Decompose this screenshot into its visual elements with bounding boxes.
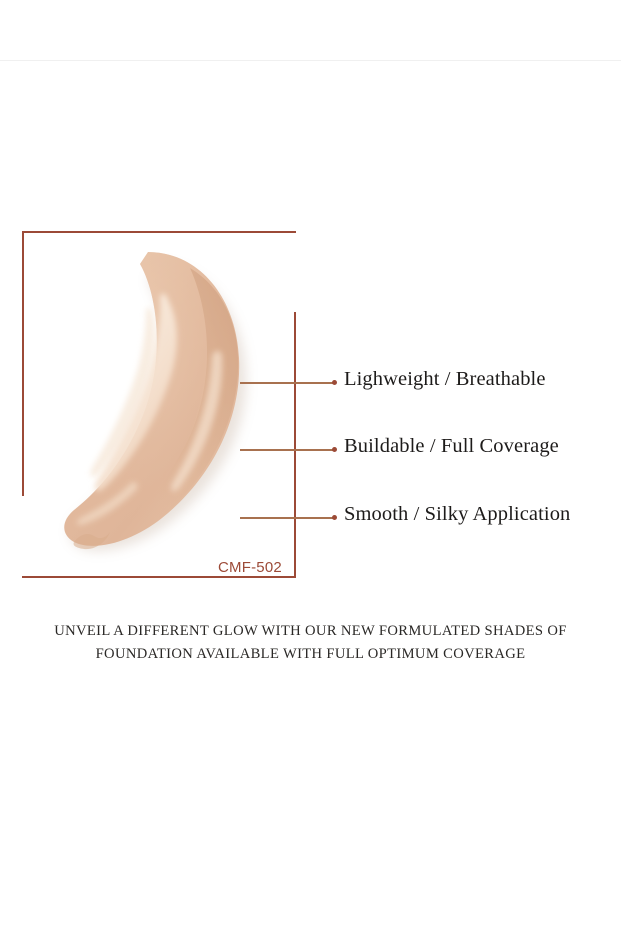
leader-line-icon	[240, 517, 334, 519]
callout-label-3: Smooth / Silky Application	[344, 503, 570, 526]
callout-label-1: Lighweight / Breathable	[344, 368, 546, 391]
foundation-swatch-image	[40, 238, 280, 563]
product-caption: UNVEIL A DIFFERENT GLOW WITH OUR NEW FOR…	[0, 620, 621, 666]
caption-line-2: FOUNDATION AVAILABLE WITH FULL OPTIMUM C…	[0, 643, 621, 666]
frame-top-edge	[22, 231, 296, 233]
leader-line-icon	[240, 449, 334, 451]
frame-bottom-edge	[22, 576, 296, 578]
leader-dot-icon	[332, 515, 337, 520]
shade-code-label: CMF-502	[218, 559, 282, 576]
leader-dot-icon	[332, 380, 337, 385]
leader-dot-icon	[332, 447, 337, 452]
frame-right-edge	[294, 312, 296, 578]
callout-label-2: Buildable / Full Coverage	[344, 435, 559, 458]
caption-line-1: UNVEIL A DIFFERENT GLOW WITH OUR NEW FOR…	[0, 620, 621, 643]
frame-left-edge	[22, 231, 24, 496]
leader-line-icon	[240, 382, 334, 384]
product-infographic: Lighweight / Breathable Buildable / Full…	[0, 0, 621, 931]
